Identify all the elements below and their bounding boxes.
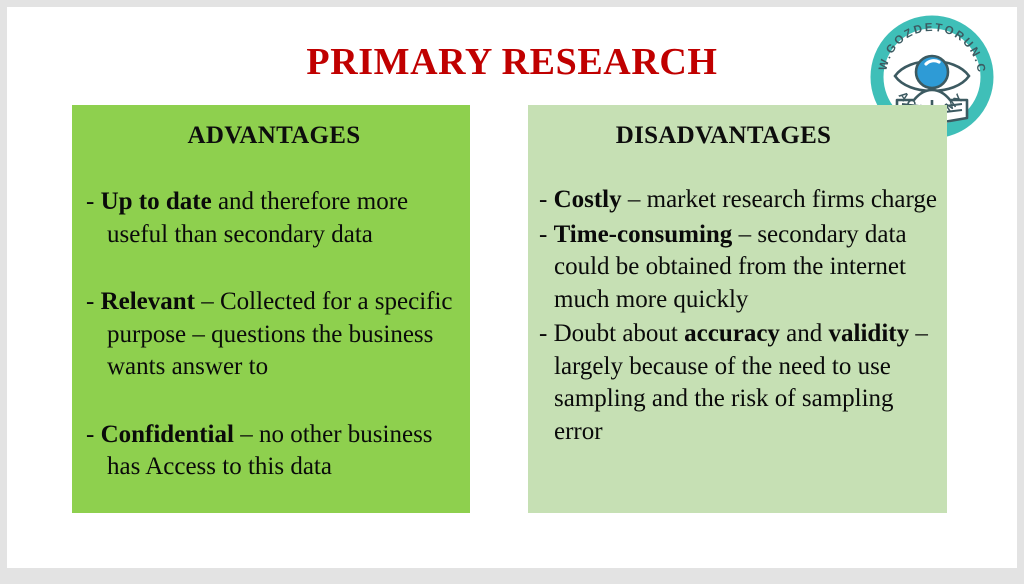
panel-advantages-heading: ADVANTAGES [72,105,470,150]
advantages-list: - Up to date and therefore more useful t… [72,186,470,484]
bullet-pre: Doubt about [554,320,685,347]
bullet-lead: Costly [554,186,622,213]
bullet-lead: Time-consuming [554,221,733,248]
bullet-marker: - [86,421,94,448]
list-item: - Relevant – Collected for a specific pu… [86,286,464,384]
bullet-marker: - [539,320,547,347]
bullet-marker: - [539,221,547,248]
list-item: - Confidential – no other business has A… [86,419,464,484]
bullet-lead: Up to date [101,188,212,215]
bullet-lead: Relevant [101,288,195,315]
bullet-lead: Confidential [101,421,234,448]
list-item: - Costly – market research firms charge [539,184,941,217]
list-item: - Time-consuming – secondary data could … [539,219,941,317]
panel-disadvantages: DISADVANTAGES - Costly – market research… [528,105,947,513]
bullet-marker: - [86,288,94,315]
bullet-mid: and [780,320,829,347]
list-item: - Doubt about accuracy and validity – la… [539,318,941,448]
bullet-rest: – market research firms charge [622,186,937,213]
bullet-lead-2: validity [829,320,910,347]
bullet-marker: - [539,186,547,213]
page-title: PRIMARY RESEARCH [7,40,1017,84]
bullet-lead: accuracy [684,320,780,347]
bullet-marker: - [86,188,94,215]
list-item: - Up to date and therefore more useful t… [86,186,464,251]
disadvantages-list: - Costly – market research firms charge … [528,184,947,448]
panel-advantages: ADVANTAGES - Up to date and therefore mo… [72,105,470,513]
slide-canvas: PRIMARY RESEARCH WWW.GOZDETORUN.COM [7,7,1017,568]
panel-disadvantages-heading: DISADVANTAGES [528,105,947,150]
slide-frame: PRIMARY RESEARCH WWW.GOZDETORUN.COM [0,0,1024,584]
